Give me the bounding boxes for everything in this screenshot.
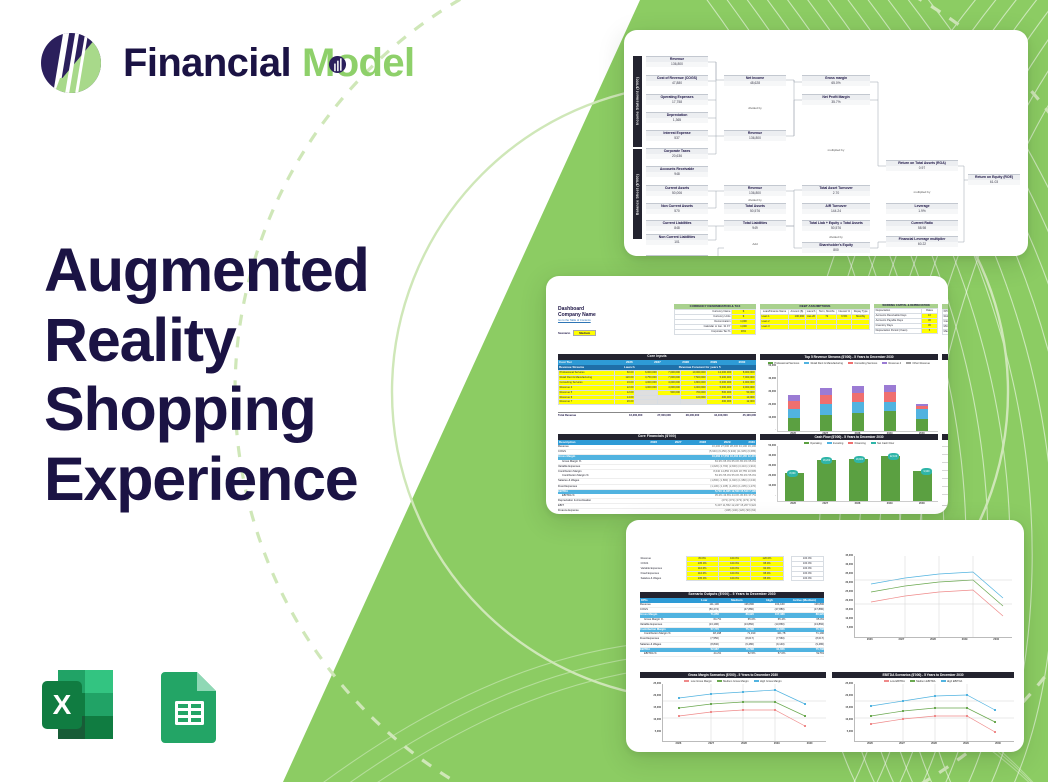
google-sheets-icon[interactable] [147, 664, 230, 747]
scenario-analysis-screenshot[interactable]: Revenue80.0%100.0%120.0%100.0% COGS105.0… [626, 520, 1024, 752]
working-capital-table: DepreciationRates Accounts Receivable Da… [874, 308, 938, 333]
dupont-operator: divided by [735, 198, 775, 202]
data-label-bubble: 22,100 [888, 453, 899, 460]
dupont-balance-box: Current Assets50,006 [646, 185, 708, 196]
dashboard-screenshot[interactable]: Dashboard Company Name Go to the Table o… [546, 276, 948, 514]
dupont-balance-box: Non Current Assets570 [646, 203, 708, 214]
core-financials-rows: Revenue16,200 27,000 28,400 34,100 19,10… [558, 445, 756, 514]
scenario-outputs-rows: Revenue111,130136,800164,160136,800 COGS… [640, 603, 824, 657]
dupont-operator: divided by [735, 106, 775, 110]
chart-investment-payback: Investment Payback Chart ($'000) - 5 Yea… [942, 434, 948, 509]
bar [849, 459, 868, 501]
chart-cash-flow: Cash Flow ($'000) - 5 Years to December … [760, 434, 938, 505]
ebitda-scenario-lines [855, 684, 1014, 741]
dupont-mid-box: Revenue136,800 [724, 185, 786, 196]
data-label-bubble: 18,200 [821, 457, 832, 464]
chart-x-axis: 2026 2027 2028 2029 2030 [777, 502, 938, 505]
chart-plot-area: 50,000 40,000 30,000 20,000 10,000 - 8,6… [777, 446, 938, 502]
chart-x-axis: 2026 2027 2028 2029 2030 [942, 506, 948, 509]
chart-bars [778, 446, 938, 501]
headline-line-2: Reality [44, 306, 369, 376]
scenario-dropdown[interactable]: Medium [573, 330, 596, 336]
headline-line-3: Shopping [44, 375, 369, 445]
dupont-side-income-statement: Income Statement ($'000) [633, 56, 642, 147]
table-row: Finance Expense(108) (140) (120) (90) (6… [558, 509, 756, 514]
data-label-bubble: 8,600 [787, 470, 798, 477]
dupont-ratio-box: Total Asset Turnover2.70 [802, 185, 870, 196]
data-label-bubble: 9,900 [921, 468, 932, 475]
chart-x-axis: 2026 2027 2028 2029 2030 [854, 742, 1014, 745]
supported-apps: X [36, 664, 230, 747]
dupont-income-box: Cost of Revenue (COGS)47,880 [646, 75, 708, 86]
scenario-outputs-panel: Scenario Outputs ($'000) - 5 Years to De… [640, 592, 824, 657]
core-inputs-col-subheader: Revenue Forecast for years 5 [643, 365, 756, 370]
dupont-balance-box: Equity49,628 [646, 255, 708, 256]
dashboard-sheet: Dashboard Company Name Go to the Table o… [546, 276, 948, 514]
data-label-bubble: 18,900 [854, 456, 865, 463]
bar-stack [788, 395, 800, 431]
chart-plot-area: 25,000 20,000 15,000 10,000 5,000 [662, 684, 826, 742]
dupont-mid-box: Net Income48,628 [724, 75, 786, 86]
bar [785, 473, 804, 501]
table-row: KPIValue [943, 310, 949, 315]
dupont-operator: multiplied by [816, 148, 856, 152]
scenario-label: Scenario [558, 331, 570, 335]
dupont-mid-box: Total Liabilities949 [724, 220, 786, 231]
dupont-mid-box: Total Assets50,576 [724, 203, 786, 214]
dashboard-header: Dashboard Company Name Go to the Table o… [558, 306, 668, 336]
table-row: Minimum Cash Position44,128 [943, 324, 949, 329]
dupont-balance-box: Non Current Liabilities101 [646, 234, 708, 245]
dupont-operator: Add [735, 242, 775, 246]
headline-line-1: Augmented [44, 236, 369, 306]
chart-bars [778, 366, 938, 431]
chart-top-revenue-streams: Top 5 Revenue Streams ($'000) - 5 Years … [760, 354, 938, 435]
revenue-scenario-lines [855, 556, 1012, 637]
table-row: Accounts Receivable Days10 [875, 314, 938, 319]
brand-wordmark: Financial Model [123, 43, 415, 83]
chart-plot-area: 45,000 40,000 35,000 30,000 25,000 20,00… [854, 556, 1012, 638]
ebitda-percent-line [942, 366, 948, 432]
table-row: Revenue 720.00400,00012,000 [559, 400, 756, 405]
brand-word-financial: Financial [123, 43, 291, 83]
core-inputs-panel: Core Inputs Cost Tier 2026 2027 2028 202… [558, 354, 756, 417]
dupont-balance-box: Accounts Receivable948 [646, 166, 708, 177]
chart-plot-area: 70,000 60,000 50,000 40,000 30,000 20,00… [942, 446, 948, 506]
debt-panel: DEBT ASSUMPTIONS Loan/Finance Name Amoun… [760, 304, 870, 330]
chart-plot-area: 16,200 10,200 27,000 15,000 28,400 14,10… [942, 366, 948, 432]
chart-x-axis: 2026 2027 2028 2029 2030 [662, 742, 826, 745]
bar-stack [916, 404, 928, 431]
slide-canvas: Financial Model Augmented Reality Shoppi… [0, 0, 1048, 782]
dupont-mid-box: Revenue136,800 [724, 130, 786, 141]
debt-table: Loan/Finance Name Amount ($) Launch Term… [760, 309, 870, 330]
dupont-return-on-equity-box: Return on Equity (ROE)61.03 [968, 174, 1020, 185]
chart-gross-margin-scenarios: Gross Margin Scenarios ($'000) - 5 Years… [640, 672, 826, 745]
table-row: EBITDA %44.2%52.5%57.0%52.5% [640, 652, 824, 657]
core-inputs-col-launch: Launch [615, 365, 643, 370]
working-capital-panel-header: WORKING CAPITAL & DEPRECIATION [874, 304, 938, 308]
dupont-ratio-box: Net Profit Margin35.7% [802, 94, 870, 105]
dupont-income-box: Depreciation1,365 [646, 112, 708, 123]
chart-plot-area: 50,000 40,000 30,000 20,000 10,000 - [777, 366, 938, 432]
table-row: Salaries & Wages105.0%100.0%95.0%100.0% [640, 576, 824, 581]
scenario-assumptions-table: Revenue80.0%100.0%120.0%100.0% COGS105.0… [640, 556, 824, 581]
table-row: Depreciation Period (Years)5 [875, 328, 938, 333]
dupont-balance-box: Current Liabilities848 [646, 220, 708, 231]
chart-x-axis: 2026 2027 2028 2029 2030 [854, 638, 1012, 641]
scenario-sheet: Revenue80.0%100.0%120.0%100.0% COGS105.0… [626, 520, 1024, 752]
chart-plot-area: 25,000 20,000 15,000 10,000 5,000 [854, 684, 1014, 742]
dupont-side-balance-sheet: Balance Sheet ($'000) [633, 149, 642, 239]
dupont-ratio-box: Total Liab + Equity = Total Assets50,576 [802, 220, 870, 231]
brand-word-model: Model [302, 43, 415, 83]
dupont-income-box: Interest Expense537 [646, 130, 708, 141]
bar-stack [884, 385, 896, 431]
dupont-right-box: Return on Total Assets (ROA)0.97 [886, 160, 958, 171]
bar-stack [852, 386, 864, 431]
headline-line-4: Experience [44, 445, 369, 515]
core-financials-panel: Core Financials ($'000) Description 2026… [558, 434, 756, 514]
dashboard-toc-link[interactable]: Go to the Table of Contents [558, 319, 668, 323]
bar [881, 456, 900, 501]
dupont-ratio-box: Shareholder's Equity800 [802, 242, 870, 253]
microsoft-excel-icon[interactable]: X [36, 664, 119, 747]
table-row: Loan 3 [761, 324, 870, 329]
dupont-operator: multiplied by [902, 190, 942, 194]
table-row: Maximum Debt ($'000)1,10,512 [943, 329, 949, 334]
dupont-ratio-box: A/R Turnover144.24 [802, 203, 870, 214]
core-inputs-col-stream: Revenue Streams [558, 365, 615, 370]
dupont-operator: divided by [816, 235, 856, 239]
dupont-right-box: Financial Leverage multiplier60.22 [886, 236, 958, 247]
table-row: Corporate Tax %30% [675, 329, 756, 334]
payback-line [942, 446, 948, 505]
dupont-sheet: Income Statement ($'000) Balance Sheet (… [624, 30, 1028, 256]
chart-profitability: Profitability ($'000) - 5 Years to Decem… [942, 354, 948, 435]
dupont-ratio-box: Gross margin65.0% [802, 75, 870, 86]
financial-model-circle-logo-icon [36, 26, 106, 100]
bar [913, 471, 932, 501]
dupont-income-box: Corporate Taxes20,636 [646, 148, 708, 159]
dupont-right-box: Leverage1.9% [886, 203, 958, 214]
currency-panel: CURRENCY DENOMINATION & TAX Currency Nam… [674, 304, 756, 335]
bar-stack [820, 388, 832, 431]
chart-ebitda-scenarios: EBITDA Scenarios ($'000) - 5 Years to De… [832, 672, 1014, 745]
kpi-table: KPIValue Return on Equity (ROE)61.03 Int… [942, 309, 948, 334]
currency-table: Currency Name$ Currency Units$ Denominat… [674, 309, 756, 334]
dupont-income-box: Revenue136,800 [646, 56, 708, 67]
table-row: Return on Equity (ROE)61.03 [943, 314, 949, 319]
svg-text:X: X [53, 689, 72, 720]
kpi-panel: KEY METRICS KPIValue Return on Equity (R… [942, 304, 948, 335]
bar [817, 460, 836, 501]
page-title: Augmented Reality Shopping Experience [44, 236, 369, 514]
core-inputs-table: Professional Services60.006,000,0007,000… [558, 370, 756, 405]
working-capital-panel: WORKING CAPITAL & DEPRECIATION Depreciat… [874, 304, 938, 334]
gross-margin-lines [663, 684, 826, 741]
total-revenue-label: Total Revenue [558, 414, 614, 417]
bar-chart-in-o-icon [328, 55, 347, 74]
table-row: Internal Rate of Return (IRR), %146.6% [943, 319, 949, 324]
table-row: Loan/Finance Name Amount ($) Launch Term… [761, 310, 870, 315]
chart-revenue-scenarios: 45,000 40,000 35,000 30,000 25,000 20,00… [832, 556, 1012, 641]
dupont-analysis-screenshot[interactable]: Income Statement ($'000) Balance Sheet (… [624, 30, 1028, 256]
scenario-assumptions: Revenue80.0%100.0%120.0%100.0% COGS105.0… [640, 556, 824, 581]
brand-logo[interactable]: Financial Model [36, 26, 415, 100]
dupont-right-box: Current Ratio58.98 [886, 220, 958, 231]
dupont-income-box: Operating Expenses17,758 [646, 94, 708, 105]
